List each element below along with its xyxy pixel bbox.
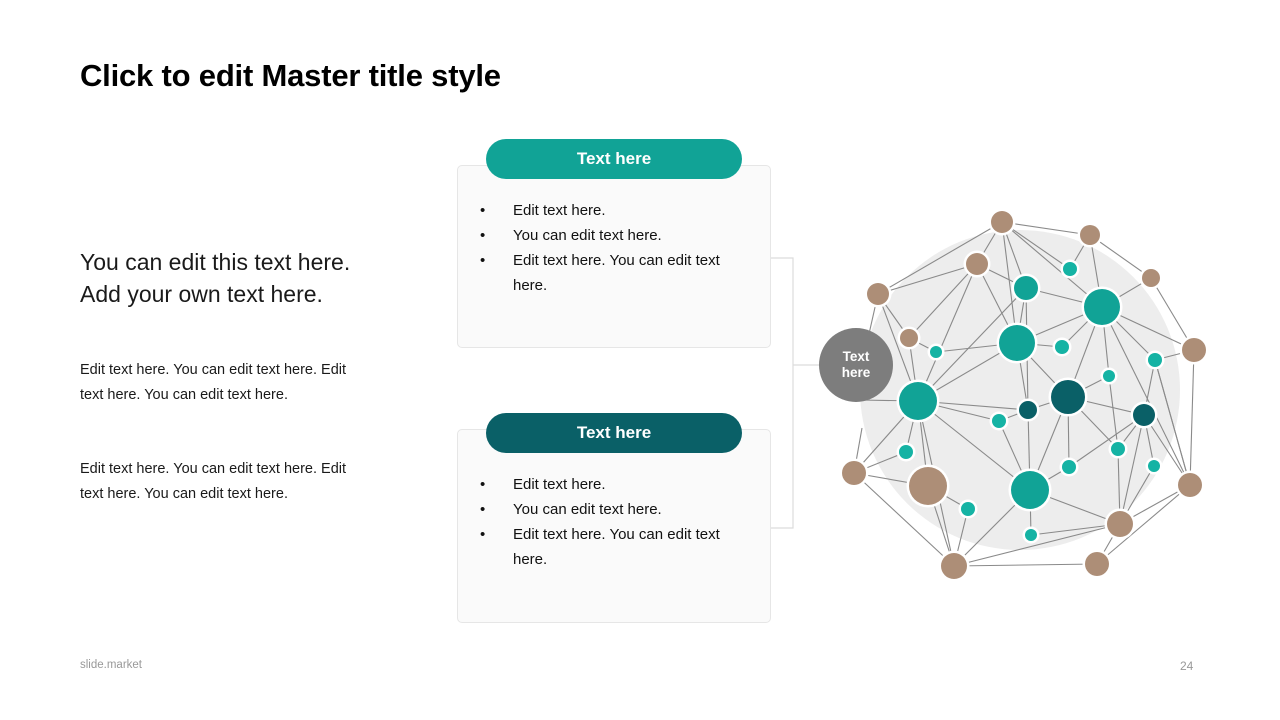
card-header-pill-2[interactable]: Text here	[486, 413, 742, 453]
body-paragraph-2: Edit text here. You can edit text here. …	[80, 457, 358, 507]
network-node	[1014, 276, 1038, 300]
footer-brand: slide.market	[80, 659, 142, 671]
network-node	[842, 461, 866, 485]
network-node	[1142, 269, 1160, 287]
network-node	[1178, 473, 1202, 497]
hub-node[interactable]: Text here	[819, 328, 893, 402]
card-header-label-1: Text here	[577, 149, 651, 169]
lead-paragraph: You can edit this text here. Add your ow…	[80, 246, 370, 310]
hub-label-line-2: here	[842, 365, 871, 381]
network-node	[1062, 460, 1076, 474]
card-header-label-2: Text here	[577, 423, 651, 443]
network-node	[1085, 552, 1109, 576]
network-node	[900, 329, 918, 347]
network-node	[1084, 289, 1120, 325]
network-node	[867, 283, 889, 305]
network-node	[1019, 401, 1037, 419]
network-node	[899, 382, 937, 420]
list-item: Edit text here. You can edit text here.	[477, 522, 757, 572]
network-edge	[1190, 350, 1194, 485]
network-node	[1107, 511, 1133, 537]
bracket-path	[771, 258, 793, 528]
body-paragraph-1: Edit text here. You can edit text here. …	[80, 358, 358, 408]
network-node	[1051, 380, 1085, 414]
network-node	[1182, 338, 1206, 362]
card-bullet-list-2: Edit text here. You can edit text here. …	[477, 472, 757, 572]
network-node	[1148, 460, 1160, 472]
network-node	[1025, 529, 1037, 541]
card-bullet-list-1: Edit text here. You can edit text here. …	[477, 198, 757, 298]
network-node	[999, 325, 1035, 361]
network-node	[930, 346, 942, 358]
network-node	[909, 467, 947, 505]
network-node	[1111, 442, 1125, 456]
list-item: Edit text here.	[477, 198, 757, 223]
hub-label-line-1: Text	[843, 349, 870, 365]
network-edge	[954, 564, 1097, 566]
card-header-pill-1[interactable]: Text here	[486, 139, 742, 179]
list-item: You can edit text here.	[477, 223, 757, 248]
network-node	[941, 553, 967, 579]
network-node	[1103, 370, 1115, 382]
network-node	[1148, 353, 1162, 367]
network-node	[966, 253, 988, 275]
network-node	[1133, 404, 1155, 426]
network-node	[899, 445, 913, 459]
list-item: Edit text here.	[477, 472, 757, 497]
network-node	[961, 502, 975, 516]
network-node	[1055, 340, 1069, 354]
network-node	[1080, 225, 1100, 245]
page-number: 24	[1180, 659, 1193, 673]
list-item: Edit text here. You can edit text here.	[477, 248, 757, 298]
network-node	[991, 211, 1013, 233]
list-item: You can edit text here.	[477, 497, 757, 522]
network-node	[992, 414, 1006, 428]
network-node	[1011, 471, 1049, 509]
page-title: Click to edit Master title style	[80, 58, 501, 94]
network-node	[1063, 262, 1077, 276]
